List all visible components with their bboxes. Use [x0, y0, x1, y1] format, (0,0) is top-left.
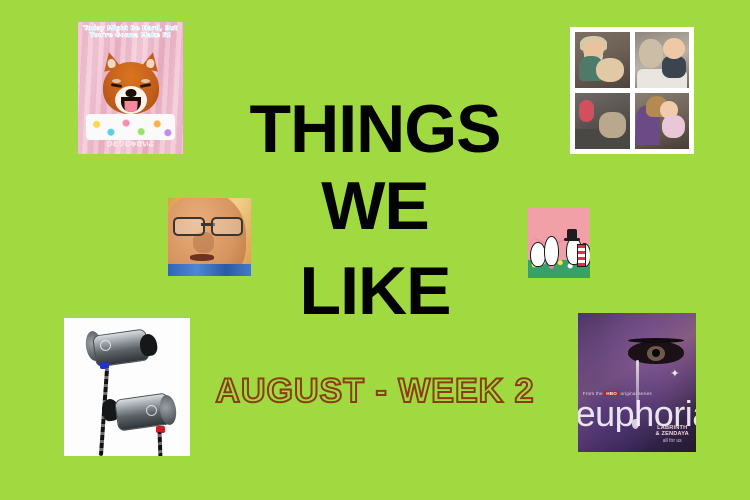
image-man-with-glasses — [168, 198, 251, 276]
hbo-line-prefix: From the — [583, 391, 603, 396]
collage-tile-child-with-dog — [575, 93, 630, 149]
image-earphones — [64, 318, 190, 456]
moomin-striped-figure — [577, 244, 586, 267]
cat-body — [639, 39, 663, 68]
collage-tile-girl-with-cat — [575, 32, 630, 88]
glasses-lens-right — [211, 217, 243, 237]
euphoria-track: all for us — [656, 438, 689, 444]
collage-tile-toddler-highchair — [635, 32, 690, 88]
moomin-character-2 — [544, 236, 558, 266]
dog-body — [599, 112, 626, 138]
man-shirt — [168, 264, 251, 276]
man-mouth — [190, 254, 215, 261]
dog-tongue — [124, 101, 137, 112]
glasses-icon — [173, 217, 243, 233]
euphoria-credits: LABRINTH & ZENDAYA all for us — [656, 425, 689, 444]
dog-nose — [125, 89, 136, 97]
image-pet-collage — [570, 27, 694, 154]
child-top — [662, 56, 686, 78]
sparkle-icon: ✦ — [670, 369, 679, 380]
euphoria-artist-1: LABRINTH — [656, 425, 689, 431]
image-euphoria-cover: ✦ From the HBO original series euphoria … — [578, 313, 696, 452]
cat-body — [596, 58, 624, 83]
euphoria-hbo-line: From the HBO original series — [583, 391, 652, 396]
moomin-top-hat — [567, 229, 577, 239]
dog-eye-right — [139, 83, 150, 88]
earbud-right-logo — [146, 405, 157, 416]
earphone-cord-right — [158, 432, 163, 456]
hbo-line-suffix: original series — [620, 391, 651, 396]
baby-body — [662, 115, 685, 137]
dog-head — [103, 62, 159, 114]
euphoria-artist-2: & ZENDAYA — [656, 431, 689, 437]
dog-meme-top-text: Today Might Be Hard, But You're Gonna Ma… — [80, 25, 181, 40]
child-figure — [579, 100, 593, 122]
dog-eye-left — [110, 83, 121, 88]
hbo-badge: HBO — [604, 391, 619, 396]
collage-grid — [575, 32, 689, 149]
glasses-lens-left — [173, 217, 205, 237]
dog-floral-collar — [86, 114, 175, 140]
image-moomin — [528, 208, 590, 278]
dog-meme-bottom-text: ひとりじゃないよ — [82, 139, 179, 148]
image-dog-meme: Today Might Be Hard, But You're Gonna Ma… — [78, 22, 183, 154]
earbud-left-logo — [100, 340, 111, 351]
poster-canvas: Today Might Be Hard, But You're Gonna Ma… — [0, 0, 750, 500]
eye-lashes — [628, 338, 685, 343]
collage-tile-woman-and-baby — [635, 93, 690, 149]
shiba-inu-illustration — [100, 58, 162, 116]
child-face — [663, 38, 685, 59]
title-line-2: WE — [0, 162, 750, 250]
